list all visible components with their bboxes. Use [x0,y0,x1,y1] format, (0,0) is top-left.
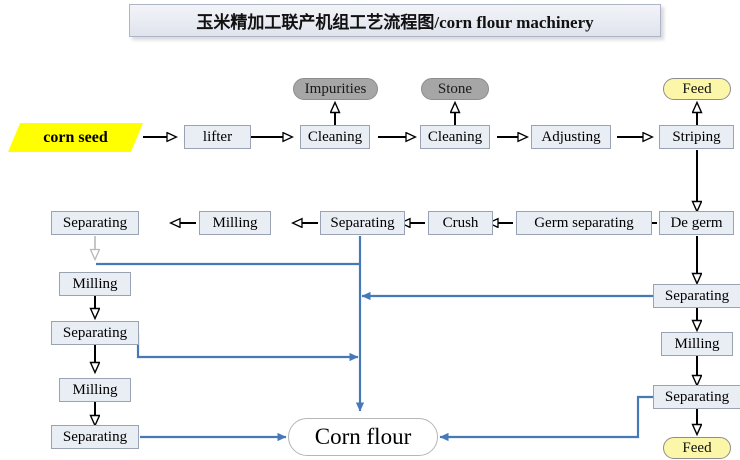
node-milling-l3[interactable]: Milling [59,378,131,402]
node-milling-r2-right[interactable]: Milling [661,332,733,356]
node-feed-top[interactable]: Feed [663,78,731,100]
node-cleaning-1[interactable]: Cleaning [300,125,370,149]
node-separating-l2[interactable]: Separating [51,321,139,345]
node-cleaning-2[interactable]: Cleaning [420,125,490,149]
node-separating-r1[interactable]: Separating [653,284,740,308]
node-corn-seed[interactable]: corn seed [8,123,143,152]
node-germ-separating[interactable]: Germ separating [516,211,652,235]
node-separating-r2-mid[interactable]: Separating [320,211,405,235]
node-feed-bottom[interactable]: Feed [663,437,731,459]
node-de-germ[interactable]: De germ [659,211,734,235]
node-corn-flour[interactable]: Corn flour [288,418,438,456]
node-separating-r3[interactable]: Separating [653,385,740,409]
flowchart-canvas: 玉米精加工联产机组工艺流程图/corn flour machinery [0,0,740,460]
node-crush[interactable]: Crush [428,211,493,235]
node-adjusting[interactable]: Adjusting [531,125,611,149]
node-separating-l4[interactable]: Separating [51,425,139,449]
node-striping[interactable]: Striping [659,125,734,149]
node-stone[interactable]: Stone [421,78,489,100]
node-lifter[interactable]: lifter [184,125,251,149]
node-milling-r2[interactable]: Milling [199,211,271,235]
node-impurities[interactable]: Impurities [293,78,378,100]
node-separating-r2-left[interactable]: Separating [51,211,139,235]
node-milling-l1[interactable]: Milling [59,272,131,296]
